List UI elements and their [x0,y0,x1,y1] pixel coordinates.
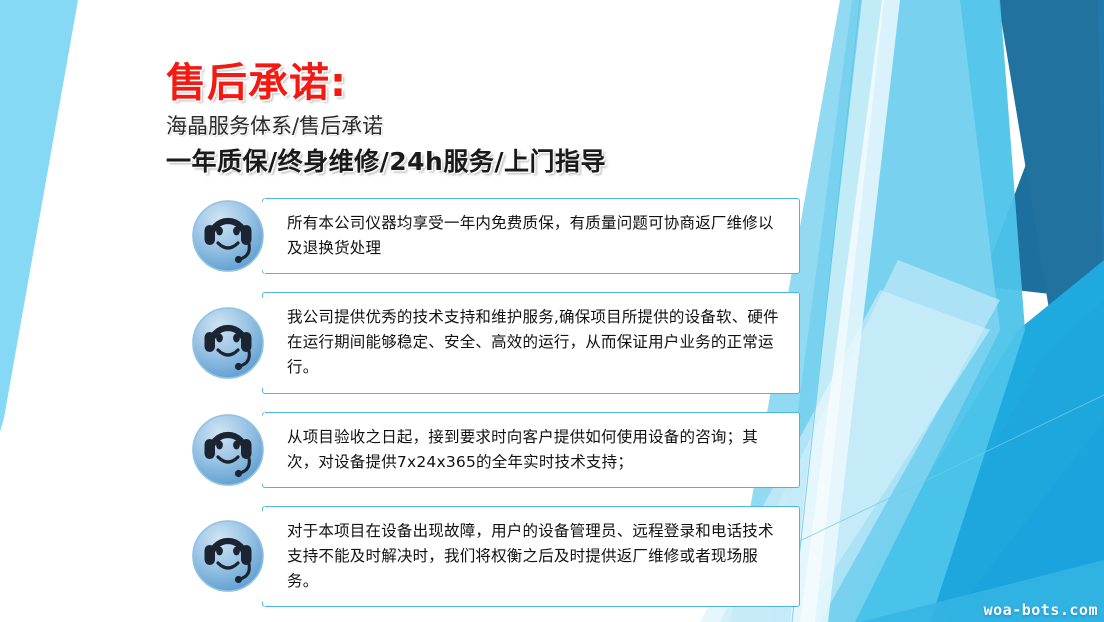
list-item-text: 对于本项目在设备出现故障，用户的设备管理员、远程登录和电话技术支持不能及时解决时… [287,519,785,594]
bg-bottom-right-wedge [948,420,1104,622]
header-block: 售后承诺: 海晶服务体系/售后承诺 一年质保/终身维修/24h服务/上门指导 [166,62,806,177]
bg-right-dark-band [980,0,1104,300]
list-item: 所有本公司仪器均享受一年内免费质保，有质量问题可协商返厂维修以及退换货处理 [190,198,800,274]
list-item-text: 所有本公司仪器均享受一年内免费质保，有质量问题可协商返厂维修以及退换货处理 [287,211,785,261]
list-item: 我公司提供优秀的技术支持和维护服务,确保项目所提供的设备软、硬件在运行期间能够稳… [190,292,800,393]
list-item-text: 从项目验收之日起，接到要求时向客户提供如何使用设备的咨询；其次，对设备提供7x2… [287,425,785,475]
item-bubble: 对于本项目在设备出现故障，用户的设备管理员、远程登录和电话技术支持不能及时解决时… [262,506,800,607]
breadcrumb: 海晶服务体系/售后承诺 [166,114,806,139]
headset-smiley-icon [190,198,266,274]
bg-hairline-shallow [756,395,1104,562]
page-subtitle: 一年质保/终身维修/24h服务/上门指导 [166,147,806,177]
slide-root: 售后承诺: 海晶服务体系/售后承诺 一年质保/终身维修/24h服务/上门指导 [0,0,1104,622]
list-item-text: 我公司提供优秀的技术支持和维护服务,确保项目所提供的设备软、硬件在运行期间能够稳… [287,305,785,380]
headset-smiley-icon [190,305,266,381]
bg-deep-triangle [998,0,1104,352]
bg-mid-blue-right [838,260,1104,622]
page-title: 售后承诺: [166,62,806,104]
list-item: 从项目验收之日起，接到要求时向客户提供如何使用设备的咨询；其次，对设备提供7x2… [190,412,800,488]
item-bubble: 我公司提供优秀的技术支持和维护服务,确保项目所提供的设备软、硬件在运行期间能够稳… [262,292,800,393]
headset-smiley-icon [190,518,266,594]
bg-cyan-top [770,0,1025,622]
headset-smiley-icon [190,412,266,488]
watermark: woa-bots.com [984,601,1098,619]
bg-left-wedge [0,0,78,432]
item-bubble: 所有本公司仪器均享受一年内免费质保，有质量问题可协商返厂维修以及退换货处理 [262,198,800,274]
bg-pale-sliver [800,0,900,622]
commitment-list: 所有本公司仪器均享受一年内免费质保，有质量问题可协商返厂维修以及退换货处理 [190,198,800,622]
list-item: 对于本项目在设备出现故障，用户的设备管理员、远程登录和电话技术支持不能及时解决时… [190,506,800,607]
item-bubble: 从项目验收之日起，接到要求时向客户提供如何使用设备的咨询；其次，对设备提供7x2… [262,412,800,488]
